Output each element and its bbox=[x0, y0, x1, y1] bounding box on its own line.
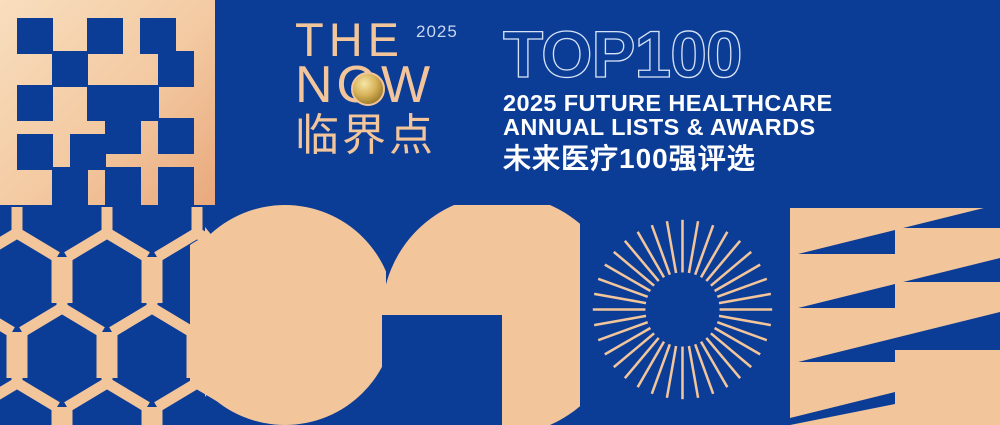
the-now-logo: THE 2025 NOW 临界点 bbox=[295, 18, 490, 193]
logo-chinese-text: 临界点 bbox=[295, 113, 490, 159]
hexagon-lattice-pattern bbox=[0, 205, 218, 425]
headline-block: TOP100 2025 FUTURE HEALTHCARE ANNUAL LIS… bbox=[503, 22, 848, 175]
english-subtitle-line2: ANNUAL LISTS & AWARDS bbox=[503, 115, 848, 139]
gold-orb-icon bbox=[351, 72, 385, 106]
top100-title: TOP100 bbox=[503, 22, 848, 87]
english-subtitle-line1: 2025 FUTURE HEALTHCARE bbox=[503, 91, 848, 115]
chevron-stripes-pattern bbox=[790, 208, 1000, 425]
chinese-subtitle: 未来医疗100强评选 bbox=[503, 143, 848, 175]
circle-shapes-group bbox=[190, 205, 580, 425]
checkerboard-pattern bbox=[0, 0, 215, 205]
logo-year-superscript: 2025 bbox=[416, 22, 458, 42]
starburst-icon bbox=[585, 212, 780, 407]
logo-now-row: NOW bbox=[295, 59, 490, 111]
award-banner: THE 2025 NOW 临界点 TOP100 2025 FUTURE HEAL… bbox=[0, 0, 1000, 425]
